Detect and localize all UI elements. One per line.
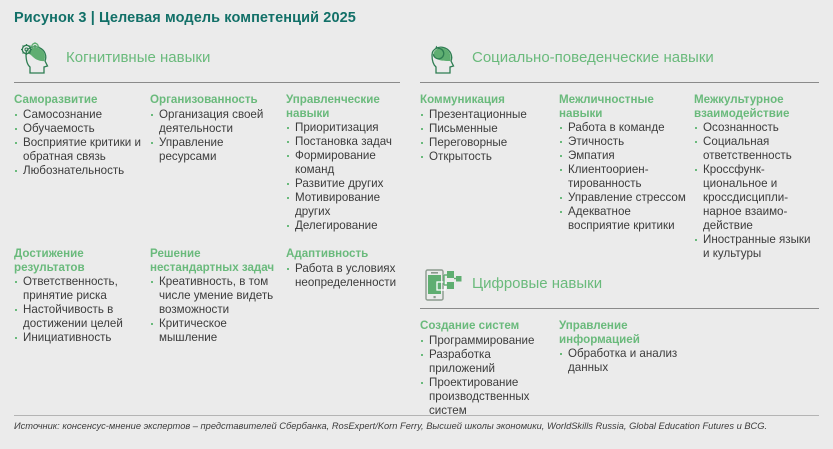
group-sozdanie-sistem: Создание систем Программирование Разрабо… [420,319,552,418]
head-gears-icon [14,40,56,80]
group-items: Ответственность, принятие риска Настойчи… [14,275,142,345]
group-items: Обработка и анализ данных [559,347,687,375]
list-item: Организация своей деятельности [150,108,276,136]
group-title: Саморазвитие [14,93,142,107]
source-note: Источник: консенсус-мнение экспертов – п… [14,421,767,431]
section-header-social: Социально-поведенческие навыки [420,40,819,80]
group-items: Программирование Разработка приложений П… [420,334,552,418]
group-mezhlichnostnye: Межличностные навыки Работа в команде Эт… [559,93,687,233]
group-items: Приоритизация Постановка задач Формирова… [286,121,400,233]
list-item: Этичность [559,135,687,149]
list-item: Мотивирование других [286,191,400,219]
list-item: Делегирование [286,219,400,233]
list-item: Адекватное восприятие критики [559,205,687,233]
page-title: Рисунок 3 | Целевая модель компетенций 2… [14,10,356,26]
group-items: Работа в команде Этичность Эмпатия Клиен… [559,121,687,233]
list-item: Программирование [420,334,552,348]
group-adaptivnost: Адаптивность Работа в условиях неопредел… [286,247,400,290]
list-item: Ответственность, принятие риска [14,275,142,303]
group-title: Организованность [150,93,276,107]
smartphone-network-icon [420,266,462,306]
figure-canvas: Рисунок 3 | Целевая модель компетенций 2… [0,0,833,449]
section-divider-social [420,82,819,83]
columns-social: Коммуникация Презентационные Письменные … [420,93,819,268]
list-item: Презентационные [420,108,552,122]
group-mezhkulturnoe: Межкультурное взаимодействие Осознанност… [694,93,819,261]
source-divider [14,415,819,416]
group-upravlenie-informaciej: Управление информацией Обработка и анали… [559,319,687,375]
group-title: Создание систем [420,319,552,333]
list-item: Любознательность [14,164,142,178]
section-title-social: Социально-поведенческие навыки [472,49,714,66]
list-item: Критическое мышление [150,317,276,345]
list-item: Работа в условиях неопределенности [286,262,400,290]
list-item: Инициативность [14,331,142,345]
list-item: Проектирование производственных систем [420,376,552,418]
group-title: Управление информацией [559,319,687,346]
section-social: Социально-поведенческие навыки Коммуника… [420,40,819,268]
list-item: Развитие других [286,177,400,191]
section-digital: Цифровые навыки Создание систем Программ… [420,266,819,434]
group-title: Адаптивность [286,247,400,261]
list-item: Разработка приложений [420,348,552,376]
group-items: Самосознание Обучаемость Восприятие крит… [14,108,142,178]
group-title: Межличностные навыки [559,93,687,120]
section-header-digital: Цифровые навыки [420,266,819,306]
group-items: Осознанность Социальная ответственность … [694,121,819,261]
section-header-cognitive: Когнитивные навыки [14,40,400,80]
group-title: Управленческие навыки [286,93,400,120]
columns-cognitive: Саморазвитие Самосознание Обучаемость Во… [14,93,400,393]
group-items: Организация своей деятельности Управлени… [150,108,276,164]
group-title: Коммуникация [420,93,552,107]
group-dostizhenie: Достижение результатов Ответственность, … [14,247,142,345]
group-items: Работа в условиях неопределенности [286,262,400,290]
group-items: Креативность, в том числе умение видеть … [150,275,276,345]
list-item: Формирование команд [286,149,400,177]
section-title-digital: Цифровые навыки [472,275,602,292]
columns-digital: Создание систем Программирование Разрабо… [420,319,819,434]
group-upravlencheskie: Управленческие навыки Приоритизация Пост… [286,93,400,233]
list-item: Обучаемость [14,122,142,136]
list-item: Открытость [420,150,552,164]
group-title: Межкультурное взаимодействие [694,93,819,120]
list-item: Постановка задач [286,135,400,149]
list-item: Управление стрессом [559,191,687,205]
list-item: Управление ресурсами [150,136,276,164]
head-refresh-icon [420,40,462,80]
group-kommunikaciya: Коммуникация Презентационные Письменные … [420,93,552,164]
list-item: Социальная ответственность [694,135,819,163]
list-item: Работа в команде [559,121,687,135]
list-item: Обработка и анализ данных [559,347,687,375]
group-organizovannost: Организованность Организация своей деяте… [150,93,276,164]
section-divider-cognitive [14,82,400,83]
section-divider-digital [420,308,819,309]
list-item: Эмпатия [559,149,687,163]
list-item: Кроссфунк-циональное и кроссдисципли-нар… [694,163,819,233]
group-title: Достижение результатов [14,247,142,274]
list-item: Восприятие критики и обратная связь [14,136,142,164]
list-item: Иностранные языки и культуры [694,233,819,261]
list-item: Самосознание [14,108,142,122]
group-title: Решение нестандартных задач [150,247,276,274]
list-item: Настойчивость в достижении целей [14,303,142,331]
list-item: Письменные [420,122,552,136]
list-item: Клиентоориен-тированность [559,163,687,191]
section-title-cognitive: Когнитивные навыки [66,49,210,66]
list-item: Креативность, в том числе умение видеть … [150,275,276,317]
group-reshenie-zadach: Решение нестандартных задач Креативность… [150,247,276,345]
group-items: Презентационные Письменные Переговорные … [420,108,552,164]
group-samorazvitie: Саморазвитие Самосознание Обучаемость Во… [14,93,142,178]
list-item: Переговорные [420,136,552,150]
list-item: Приоритизация [286,121,400,135]
list-item: Осознанность [694,121,819,135]
section-cognitive: Когнитивные навыки Саморазвитие Самосозн… [14,40,400,393]
